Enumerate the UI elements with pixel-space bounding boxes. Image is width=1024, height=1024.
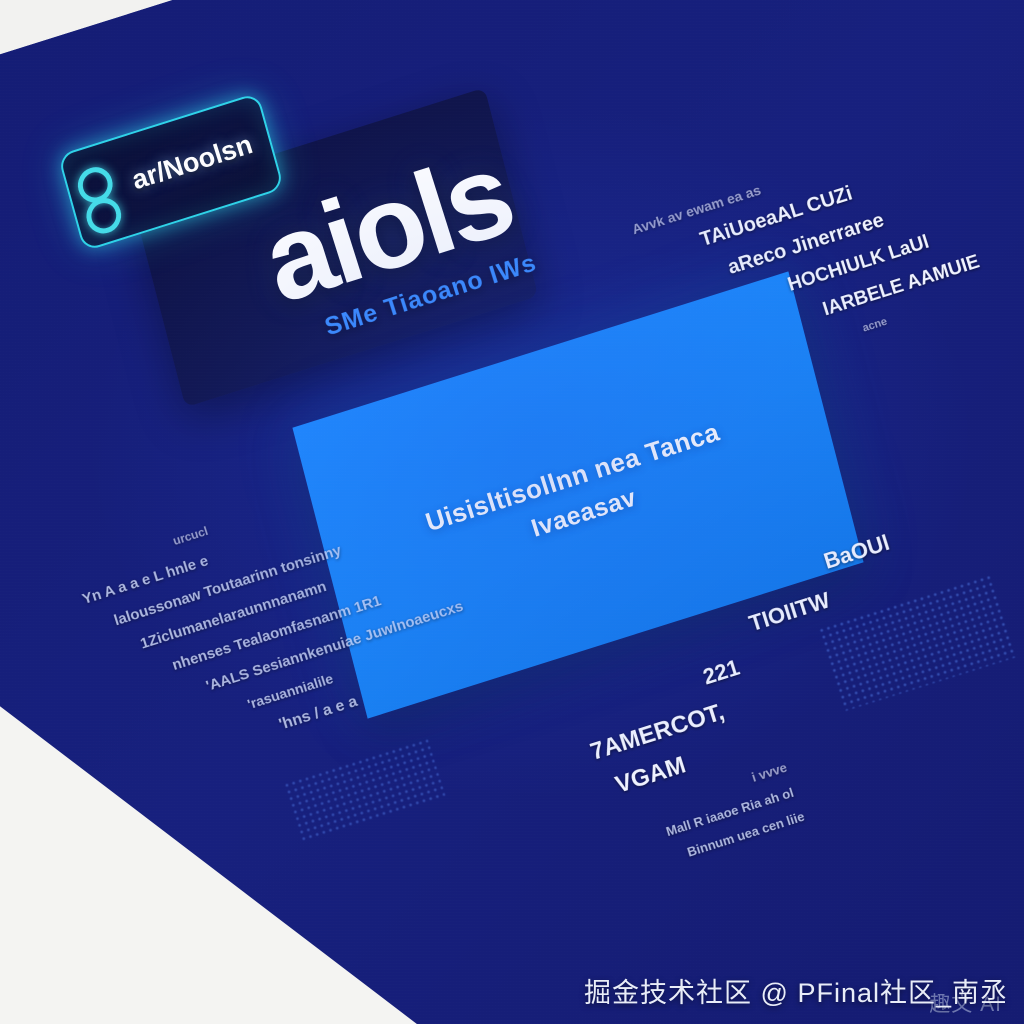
watermark: 掘金技术社区 @ PFinal社区_南丞 (584, 971, 1008, 1010)
badge-label: ar/Noolsn (111, 123, 273, 201)
azure-panel-text-group: Uisisltisollnn nea Tanca Ivaeasav (422, 417, 735, 574)
poster-canvas: ar/Noolsn aiols SMe Tiaoano IWs Uisislti… (0, 0, 1024, 1024)
